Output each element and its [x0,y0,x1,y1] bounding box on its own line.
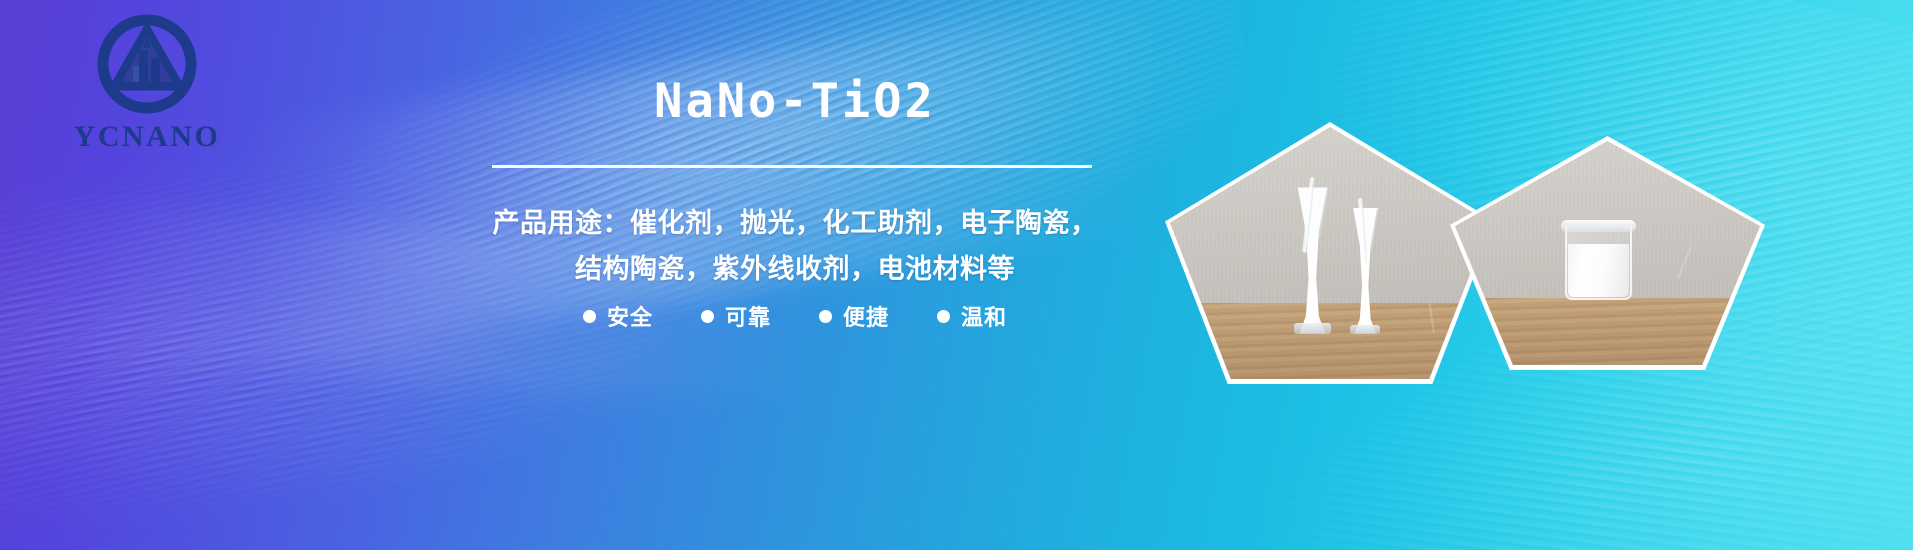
product-description: 产品用途：催化剂，抛光，化工助剂，电子陶瓷， 结构陶瓷，紫外线收剂，电池材料等 [470,200,1120,292]
feature-label: 温和 [961,300,1007,332]
logo-wordmark: YCNANO [47,120,247,154]
title-divider [492,165,1092,168]
bullet-dot-icon [819,310,832,323]
bullet-dot-icon [583,310,596,323]
product-banner: YCNANO NaNo-TiO2 产品用途：催化剂，抛光，化工助剂，电子陶瓷， … [0,0,1913,550]
product-photo-beaker [1450,136,1765,370]
nano-tio2-slurry-vases-photo [1170,127,1490,379]
nano-tio2-beaker-photo [1455,141,1760,365]
feature-label: 便捷 [843,300,889,332]
bullet-dot-icon [701,310,714,323]
feature-item-mild: 温和 [937,300,1007,332]
banner-content: NaNo-TiO2 产品用途：催化剂，抛光，化工助剂，电子陶瓷， 结构陶瓷，紫外… [470,0,1120,550]
vase-tall [1285,187,1339,333]
feature-label: 安全 [607,300,653,332]
beaker-with-slurry [1565,226,1632,300]
bullet-dot-icon [937,310,950,323]
feature-item-convenient: 便捷 [819,300,889,332]
product-photo-vases [1165,122,1495,384]
feature-list: 安全 可靠 便捷 温和 [470,300,1120,332]
feature-item-safe: 安全 [583,300,653,332]
product-title: NaNo-TiO2 [470,74,1120,129]
company-logo: YCNANO [47,14,247,164]
feature-label: 可靠 [725,300,771,332]
description-line-2: 结构陶瓷，紫外线收剂，电池材料等 [470,246,1120,292]
vase-short [1343,208,1388,334]
triangle-mountain-emblem-icon [47,14,247,124]
feature-item-reliable: 可靠 [701,300,771,332]
photo-wood-surface [1455,298,1760,365]
description-line-1: 产品用途：催化剂，抛光，化工助剂，电子陶瓷， [470,200,1120,246]
